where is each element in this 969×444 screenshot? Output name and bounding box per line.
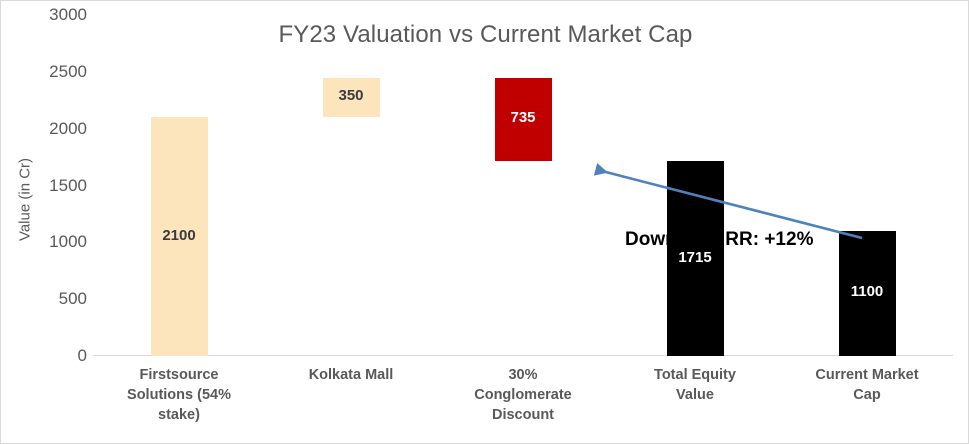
category-label-line: Cap bbox=[781, 385, 953, 405]
x-axis-category-labels: FirstsourceSolutions (54%stake)Kolkata M… bbox=[93, 365, 953, 441]
category-label-line: Solutions (54% bbox=[93, 385, 265, 405]
y-axis-tick-labels: 050010001500200025003000 bbox=[29, 15, 87, 356]
bar-2[interactable]: 350 bbox=[323, 78, 380, 118]
category-label-line: Conglomerate bbox=[437, 385, 609, 405]
category-label-line: 30% bbox=[437, 365, 609, 385]
category-label-line: Current Market bbox=[781, 365, 953, 385]
category-label-line: Total Equity bbox=[609, 365, 781, 385]
y-tick-label: 1000 bbox=[35, 232, 87, 252]
category-label-line: Discount bbox=[437, 405, 609, 425]
y-tick-label: 2000 bbox=[35, 119, 87, 139]
bar-4[interactable]: 1715 bbox=[667, 161, 724, 356]
annotation-downside-irr: Downside IRR: +12% bbox=[625, 229, 813, 251]
y-tick-label: 2500 bbox=[35, 62, 87, 82]
category-label-line: Value bbox=[609, 385, 781, 405]
bar-value-label: 1100 bbox=[839, 283, 896, 300]
bar-5[interactable]: 1100 bbox=[839, 231, 896, 356]
category-label-line: Firstsource bbox=[93, 365, 265, 385]
category-label-5: Current MarketCap bbox=[781, 365, 953, 405]
bar-value-label: 1715 bbox=[667, 249, 724, 266]
y-tick-label: 1500 bbox=[35, 176, 87, 196]
category-label-line: Kolkata Mall bbox=[265, 365, 437, 385]
bar-3[interactable]: 735 bbox=[495, 78, 552, 162]
bar-value-label: 350 bbox=[323, 87, 380, 104]
chart-container: FY23 Valuation vs Current Market Cap Val… bbox=[0, 0, 969, 444]
category-label-1: FirstsourceSolutions (54%stake) bbox=[93, 365, 265, 425]
bar-value-label: 2100 bbox=[151, 227, 208, 244]
bar-value-label: 735 bbox=[495, 109, 552, 126]
y-tick-label: 500 bbox=[35, 289, 87, 309]
y-tick-label: 0 bbox=[35, 346, 87, 366]
category-label-4: Total EquityValue bbox=[609, 365, 781, 405]
category-label-2: Kolkata Mall bbox=[265, 365, 437, 385]
y-tick-label: 3000 bbox=[35, 5, 87, 25]
category-label-line: stake) bbox=[93, 405, 265, 425]
plot-area: 210035073517151100 bbox=[93, 15, 953, 356]
bar-1[interactable]: 2100 bbox=[151, 117, 208, 356]
category-label-3: 30%ConglomerateDiscount bbox=[437, 365, 609, 425]
